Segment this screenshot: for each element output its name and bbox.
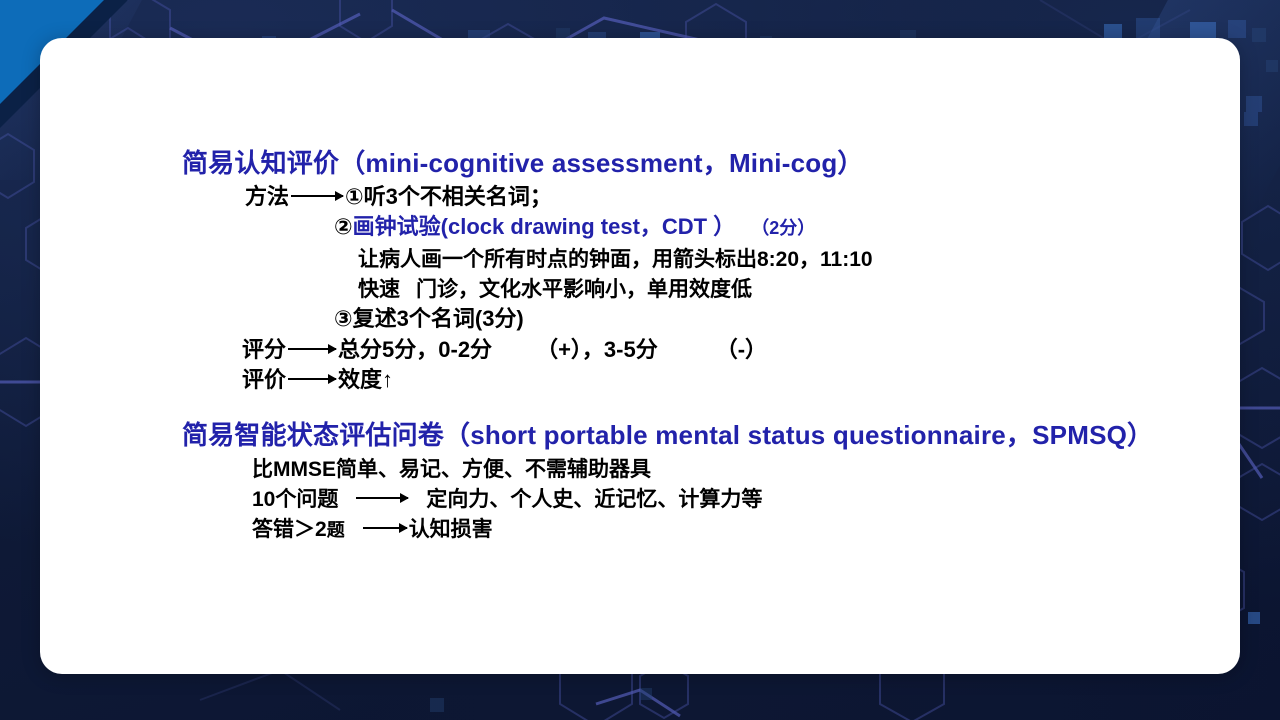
section1-item2-detail1: 让病人画一个所有时点的钟面，用箭头标出8:20，11:10 — [358, 249, 873, 270]
section1-heading-paren-close: ） — [837, 148, 863, 178]
section2-heading-paren-close: ） — [1127, 420, 1153, 450]
right-arrow-icon — [291, 195, 343, 197]
section1-eval-line: 评价效度↑ — [242, 369, 393, 391]
section2-line2-text: 定向力、个人史、近记忆、计算力等 — [426, 488, 762, 511]
slide-root: 简易认知评价（mini-cognitive assessment，Mini-co… — [0, 0, 1280, 720]
section1-heading-paren-open: （ — [339, 148, 365, 178]
decor-square — [430, 698, 444, 712]
section1-item2-detail2b: 门诊，文化水平影响小，单用效度低 — [416, 278, 752, 301]
section2-heading-paren-open: （ — [444, 420, 470, 450]
section2-line3-label: 答错＞2 — [252, 518, 327, 541]
section1-item2-detail2: 快速门诊，文化水平影响小，单用效度低 — [358, 279, 752, 300]
section2-heading-cn: 简易智能状态评估问卷 — [182, 420, 444, 450]
section1-method-label: 方法 — [245, 184, 289, 209]
right-arrow-icon — [356, 497, 408, 499]
section1-eval-text: 效度 — [338, 367, 382, 392]
content-card: 简易认知评价（mini-cognitive assessment，Mini-co… — [40, 38, 1240, 674]
section1-score-label: 评分 — [242, 337, 286, 362]
section1-method-line: 方法①听3个不相关名词； — [245, 186, 552, 208]
section2-line2-label: 10个问题 — [252, 488, 338, 511]
right-arrow-icon — [288, 378, 336, 380]
section2-heading: 简易智能状态评估问卷（short portable mental status … — [182, 422, 1153, 448]
section1-score-text-b: （+），3-5分 — [536, 337, 658, 362]
section1-heading-cn: 简易认知评价 — [182, 148, 339, 178]
section1-item3: ③复述3个名词(3分) — [334, 308, 524, 330]
section1-score-line: 评分总分5分，0-2分（+），3-5分（-） — [242, 339, 767, 361]
section2-line1: 比MMSE简单、易记、方便、不需辅助器具 — [252, 459, 651, 480]
section1-score-text-c: （-） — [716, 337, 767, 362]
section1-heading-en: mini-cognitive assessment，Mini-cog — [365, 148, 837, 178]
section1-score-text-a: 总分5分，0-2分 — [338, 337, 492, 362]
section1-heading: 简易认知评价（mini-cognitive assessment，Mini-co… — [182, 150, 864, 176]
section1-item2-number: ② — [334, 214, 353, 239]
section2-line2: 10个问题定向力、个人史、近记忆、计算力等 — [252, 489, 762, 510]
section1-item2-score: （2分） — [751, 218, 815, 238]
section1-eval-label: 评价 — [242, 367, 286, 392]
section2-line3-text: 认知损害 — [409, 518, 493, 541]
section2-heading-en: short portable mental status questionnai… — [470, 420, 1127, 450]
decor-square — [640, 688, 652, 700]
section1-item2-line: ②画钟试验(clock drawing test，CDT ）（2分） — [334, 216, 815, 238]
section1-item2-text: 画钟试验(clock drawing test，CDT ） — [353, 214, 736, 239]
decor-square — [1248, 612, 1260, 624]
right-arrow-icon — [363, 527, 407, 529]
right-arrow-icon — [288, 348, 336, 350]
section2-line3: 答错＞2题认知损害 — [252, 519, 493, 540]
section1-item1: ①听3个不相关名词； — [345, 184, 552, 209]
section1-item2-detail2a: 快速 — [358, 278, 400, 301]
slide-content: 简易认知评价（mini-cognitive assessment，Mini-co… — [40, 38, 1240, 674]
section2-line3-label-sub: 题 — [327, 520, 345, 540]
up-arrow-icon: ↑ — [382, 367, 393, 392]
